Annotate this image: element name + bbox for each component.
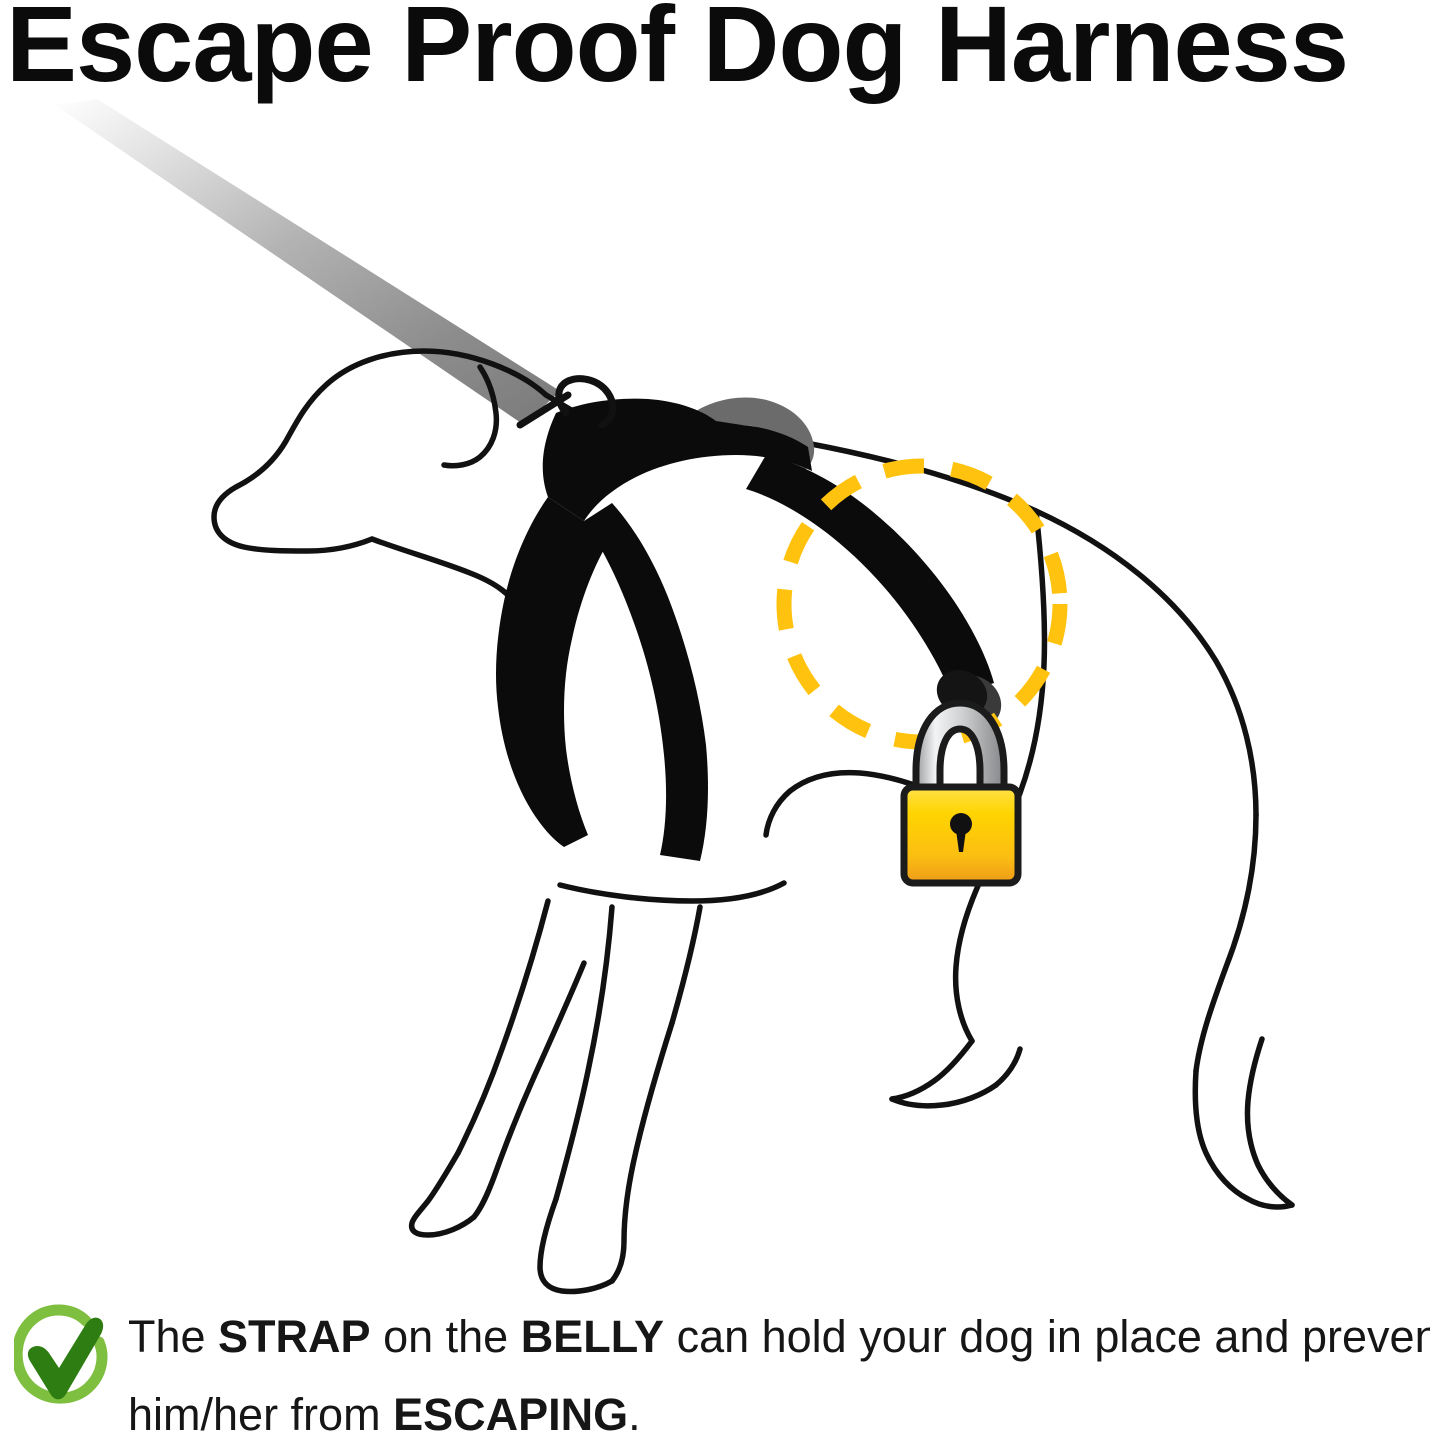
- caption-l1-p1: The: [128, 1311, 218, 1362]
- harness-belly-strap: [746, 455, 994, 697]
- caption-belly-bold: BELLY: [521, 1311, 664, 1362]
- caption-l2-p2: .: [628, 1389, 641, 1440]
- caption-text: The STRAP on the BELLY can hold your dog…: [128, 1298, 1428, 1454]
- caption-l1-p3: can hold your dog in place and prevent: [664, 1311, 1430, 1362]
- caption-escaping-bold: ESCAPING: [393, 1389, 628, 1440]
- green-check-icon: [14, 1304, 114, 1408]
- caption-block: The STRAP on the BELLY can hold your dog…: [0, 1298, 1430, 1455]
- caption-l2-p1: him/her from: [128, 1389, 393, 1440]
- page-title: Escape Proof Dog Harness: [6, 0, 1409, 94]
- caption-line-1: The STRAP on the BELLY can hold your dog…: [128, 1298, 1428, 1376]
- caption-l1-p2: on the: [371, 1311, 521, 1362]
- dog-harness-illustration: [0, 95, 1430, 1295]
- caption-strap-bold: STRAP: [218, 1311, 371, 1362]
- harness-chest-strap: [496, 497, 610, 847]
- dog-outline: [214, 351, 1292, 1292]
- padlock-icon: [904, 703, 1018, 883]
- title-bar: Escape Proof Dog Harness: [0, 0, 1430, 100]
- caption-line-2: him/her from ESCAPING.: [128, 1376, 1428, 1454]
- product-infographic: Escape Proof Dog Harness: [0, 0, 1430, 1455]
